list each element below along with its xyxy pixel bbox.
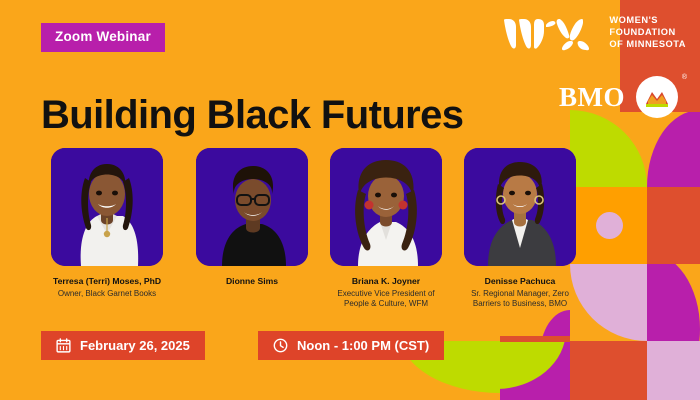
bmo-wordmark: BMO — [559, 84, 625, 111]
time-badge: Noon - 1:00 PM (CST) — [258, 331, 444, 360]
speaker-card: Dionne Sims — [196, 148, 308, 289]
speaker-role: Executive Vice President of People & Cul… — [330, 289, 442, 310]
decor-cell — [647, 341, 700, 400]
decor-cell — [570, 110, 647, 187]
decor-quarter-circle — [647, 264, 700, 341]
speaker-photo-terresa-moses — [51, 148, 163, 266]
speaker-card: Terresa (Terri) Moses, PhD Owner, Black … — [51, 148, 163, 299]
decor-cell — [647, 264, 700, 341]
date-badge: February 26, 2025 — [41, 331, 205, 360]
bmo-registered-mark: ® — [682, 74, 687, 81]
wfx-wordmark-line3: OF MINNESOTA — [609, 39, 686, 51]
decor-quarter-circle — [570, 110, 647, 187]
decor-cell — [647, 110, 700, 187]
decor-quarter-circle — [647, 110, 700, 187]
decor-cell — [570, 341, 647, 400]
speaker-photo-denisse-pachuca — [464, 148, 576, 266]
speaker-role: Sr. Regional Manager, Zero Barriers to B… — [464, 289, 576, 310]
date-text: February 26, 2025 — [80, 338, 190, 353]
speaker-role: Owner, Black Garnet Books — [51, 289, 163, 299]
speaker-card: Briana K. Joyner Executive Vice Presiden… — [330, 148, 442, 310]
decor-cell — [570, 187, 647, 264]
speaker-card: Denisse Pachuca Sr. Regional Manager, Ze… — [464, 148, 576, 310]
speaker-photo-dionne-sims — [196, 148, 308, 266]
calendar-icon — [56, 338, 71, 353]
speaker-photo-briana-joyner — [330, 148, 442, 266]
decor-cell — [647, 187, 700, 264]
wfx-logo: WOMEN'S FOUNDATION OF MINNESOTA — [502, 15, 686, 51]
decor-cell — [570, 264, 647, 341]
speaker-name: Briana K. Joyner — [330, 276, 442, 287]
speaker-name: Terresa (Terri) Moses, PhD — [51, 276, 163, 287]
decor-quarter-circle — [570, 264, 647, 341]
speaker-name: Denisse Pachuca — [464, 276, 576, 287]
decor-cell — [500, 336, 570, 342]
bmo-roundel-icon: ® — [636, 76, 678, 118]
decor-square — [570, 341, 647, 400]
webinar-poster: Zoom Webinar Building Black Futures WOME… — [0, 0, 700, 400]
page-title: Building Black Futures — [41, 95, 463, 135]
decor-square — [647, 341, 700, 400]
decor-square — [500, 336, 570, 342]
speaker-name: Dionne Sims — [196, 276, 308, 287]
webinar-type-badge: Zoom Webinar — [41, 23, 165, 52]
decor-square — [647, 187, 700, 264]
decor-circle — [596, 212, 623, 239]
wfx-mark-icon — [502, 15, 600, 51]
wfx-wordmark: WOMEN'S FOUNDATION OF MINNESOTA — [609, 15, 686, 51]
time-text: Noon - 1:00 PM (CST) — [297, 338, 429, 353]
bmo-logo: BMO ® — [559, 76, 678, 118]
decor-cell — [500, 341, 570, 400]
clock-icon — [273, 338, 288, 353]
wfx-wordmark-line2: FOUNDATION — [609, 27, 686, 39]
wfx-wordmark-line1: WOMEN'S — [609, 15, 686, 27]
